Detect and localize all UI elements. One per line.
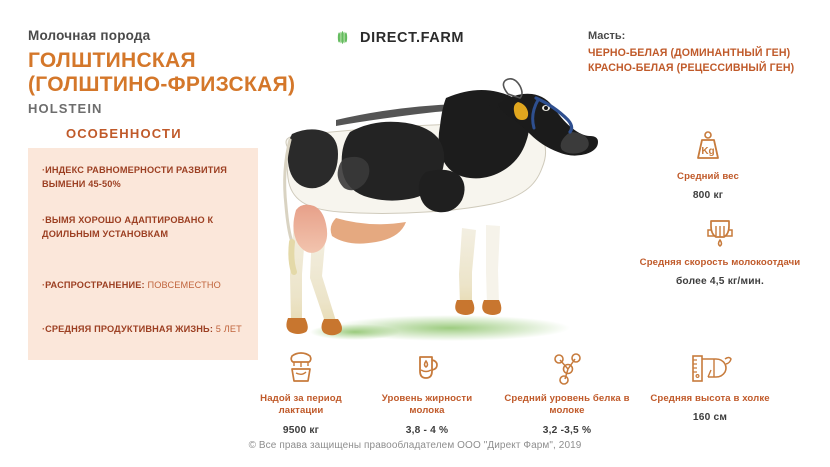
stat-milking-speed: Средняя скорость молокоотдачи более 4,5 … (608, 216, 830, 287)
stat-lactation-yield: Надой за период лактации 9500 кг (240, 352, 362, 436)
stat-caption: Надой за период лактации (240, 393, 362, 418)
svg-text:Kg: Kg (701, 146, 714, 157)
weight-kg-icon: Kg (691, 130, 725, 164)
molecule-icon (549, 352, 585, 386)
cow-hoof (455, 300, 474, 315)
stat-icon-wrap (240, 352, 362, 386)
cow-hoof (482, 300, 501, 315)
stat-icon-wrap: Kg (648, 130, 768, 164)
infographic-canvas: Молочная порода ГОЛШТИНСКАЯ (ГОЛШТИНО-ФР… (0, 0, 830, 467)
features-panel: ·ИНДЕКС РАВНОМЕРНОСТИ РАЗВИТИЯ ВЫМЕНИ 45… (28, 148, 258, 360)
coat-color-block: Масть: ЧЕРНО-БЕЛАЯ (ДОМИНАНТНЫЙ ГЕН) КРА… (588, 30, 828, 77)
stat-caption: Средняя скорость молокоотдачи (608, 257, 830, 269)
feature-item: ·РАСПРОСТРАНЕНИЕ: ПОВСЕМЕСТНО (42, 279, 248, 293)
copyright-footer: © Все права защищены правообладателем ОО… (0, 440, 830, 451)
brand-logo-text: DIRECT.FARM (360, 30, 464, 46)
stat-caption: Средняя высота в холке (640, 393, 780, 405)
holstein-cow-illustration (250, 60, 610, 360)
feature-item: ·ВЫМЯ ХОРОШО АДАПТИРОВАНО К ДОИЛЬНЫМ УСТ… (42, 214, 248, 242)
breed-kicker: Молочная порода (28, 28, 328, 43)
cow-hoof (322, 319, 343, 335)
milking-udder-icon (702, 214, 738, 250)
feature-text-strong: СРЕДНЯЯ ПРОДУКТИВНАЯ ЖИЗНЬ: (45, 324, 213, 334)
stat-icon-wrap (366, 352, 488, 386)
coat-color-label: Масть: (588, 30, 828, 42)
feature-text-light: ПОВСЕМЕСТНО (145, 280, 221, 290)
coat-color-dominant: ЧЕРНО-БЕЛАЯ (ДОМИНАНТНЫЙ ГЕН) (588, 46, 828, 61)
cow-hoof (286, 318, 307, 334)
stat-caption: Средний вес (648, 171, 768, 183)
stat-fat-content: Уровень жирности молока 3,8 - 4 % (366, 352, 488, 436)
cow-front-leg (459, 228, 476, 304)
stat-value: 800 кг (648, 190, 768, 201)
stat-icon-wrap (492, 352, 642, 386)
breed-title-line1: ГОЛШТИНСКАЯ (28, 49, 196, 72)
brand-logo[interactable]: DIRECT.FARM (334, 29, 464, 46)
feature-text-strong: РАСПРОСТРАНЕНИЕ: (45, 280, 145, 290)
ruler-cow-icon (688, 352, 732, 386)
feature-text-strong: ВЫМЯ ХОРОШО АДАПТИРОВАНО К ДОИЛЬНЫМ УСТА… (42, 215, 213, 239)
udder-bucket-icon (283, 350, 319, 386)
feature-item: ·СРЕДНЯЯ ПРОДУКТИВНАЯ ЖИЗНЬ: 5 ЛЕТ (42, 323, 248, 337)
leaf-logo-icon (334, 29, 351, 46)
stat-protein-level: Средний уровень белка в молоке 3,2 -3,5 … (492, 352, 642, 436)
stat-value: 9500 кг (240, 425, 362, 436)
feature-text-strong: ИНДЕКС РАВНОМЕРНОСТИ РАЗВИТИЯ ВЫМЕНИ 45-… (42, 165, 227, 189)
stat-average-weight: Kg Средний вес 800 кг (648, 130, 768, 201)
stat-value: 3,2 -3,5 % (492, 425, 642, 436)
feature-item: ·ИНДЕКС РАВНОМЕРНОСТИ РАЗВИТИЯ ВЫМЕНИ 45… (42, 164, 248, 192)
cow-eye-pupil (544, 106, 548, 110)
stat-value: более 4,5 кг/мин. (608, 276, 830, 287)
feature-text-light: 5 ЛЕТ (213, 324, 242, 334)
stat-value: 3,8 - 4 % (366, 425, 488, 436)
stat-value: 160 см (640, 412, 780, 423)
stat-caption: Средний уровень белка в молоке (492, 393, 642, 418)
cow-front-leg (486, 225, 500, 304)
coat-color-recessive: КРАСНО-БЕЛАЯ (РЕЦЕССИВНЫЙ ГЕН) (588, 61, 828, 76)
stat-withers-height: Средняя высота в холке 160 см (640, 352, 780, 423)
stat-icon-wrap (640, 352, 780, 386)
cow-belly-shade (331, 218, 406, 244)
stat-caption: Уровень жирности молока (366, 393, 488, 418)
stat-icon-wrap (608, 216, 830, 250)
cow-tail-tuft (291, 242, 294, 272)
milk-jug-drop-icon (410, 352, 444, 386)
